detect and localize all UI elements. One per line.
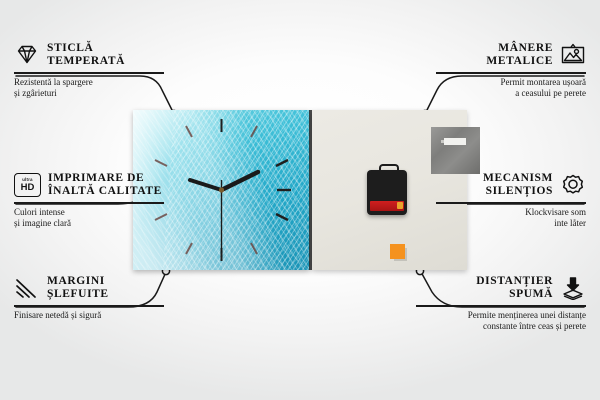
callout-rule <box>436 202 586 204</box>
callout-polished-edges: MARGINI ȘLEFUITE Finisare netedă și sigu… <box>14 275 164 321</box>
callout-foam-spacer: DISTANȚIER SPUMĂ Permite menținerea unei… <box>416 275 586 332</box>
callout-header: STICLĂ TEMPERATĂ <box>14 42 164 68</box>
badge-hd-text: HD <box>21 183 35 193</box>
callout-subtitle: Rezistentă la spargere și zgârieturi <box>14 77 164 99</box>
callout-rule <box>14 305 164 307</box>
callout-rule <box>14 72 164 74</box>
callout-silent-mechanism: MECANISM SILENȚIOS Klockvisare som inte … <box>436 172 586 229</box>
hanger-slot <box>444 138 466 145</box>
callout-header: ultra HD IMPRIMARE DE ÎNALTĂ CALITATE <box>14 172 164 198</box>
diamond-icon <box>14 43 40 67</box>
product-photo <box>133 110 467 270</box>
callout-subtitle: Permite menținerea unei distanțe constan… <box>416 310 586 332</box>
infographic-canvas: STICLĂ TEMPERATĂ Rezistentă la spargere … <box>0 0 600 400</box>
callout-subtitle: Permit montarea ușoară a ceasului pe per… <box>436 77 586 99</box>
callout-subtitle: Culori intense și imagine clară <box>14 207 164 229</box>
callout-subtitle: Finisare netedă și sigură <box>14 310 164 321</box>
callout-rule <box>436 72 586 74</box>
foam-spacer-piece <box>390 244 405 259</box>
callout-title: MÂNERE METALICE <box>486 42 553 68</box>
mechanism-hook <box>379 164 399 175</box>
callout-header: MARGINI ȘLEFUITE <box>14 275 164 301</box>
minute-hand <box>190 180 222 190</box>
diagonal-lines-icon <box>14 276 40 300</box>
callout-title: DISTANȚIER SPUMĂ <box>476 275 553 301</box>
callout-rule <box>14 202 164 204</box>
callout-title: MECANISM SILENȚIOS <box>483 172 553 198</box>
clock-center-cap <box>219 187 224 192</box>
callout-tempered-glass: STICLĂ TEMPERATĂ Rezistentă la spargere … <box>14 42 164 99</box>
callout-metal-handles: MÂNERE METALICE Permit montarea ușoară a… <box>436 42 586 99</box>
ultra-hd-badge-icon: ultra HD <box>14 173 41 197</box>
press-down-pad-icon <box>560 276 586 300</box>
hour-hand <box>222 172 259 190</box>
callout-header: DISTANȚIER SPUMĂ <box>416 275 586 301</box>
clock-mechanism <box>367 170 407 215</box>
metal-hanger-plate <box>431 127 480 174</box>
callout-title: IMPRIMARE DE ÎNALTĂ CALITATE <box>48 172 162 198</box>
callout-title: STICLĂ TEMPERATĂ <box>47 42 125 68</box>
callout-rule <box>416 305 586 307</box>
callout-header: MECANISM SILENȚIOS <box>436 172 586 198</box>
framed-picture-icon <box>560 43 586 67</box>
callout-title: MARGINI ȘLEFUITE <box>47 275 109 301</box>
gear-icon <box>560 173 586 197</box>
callout-header: MÂNERE METALICE <box>436 42 586 68</box>
battery <box>370 201 404 211</box>
callout-print-quality: ultra HD IMPRIMARE DE ÎNALTĂ CALITATE Cu… <box>14 172 164 229</box>
callout-subtitle: Klockvisare som inte låter <box>436 207 586 229</box>
